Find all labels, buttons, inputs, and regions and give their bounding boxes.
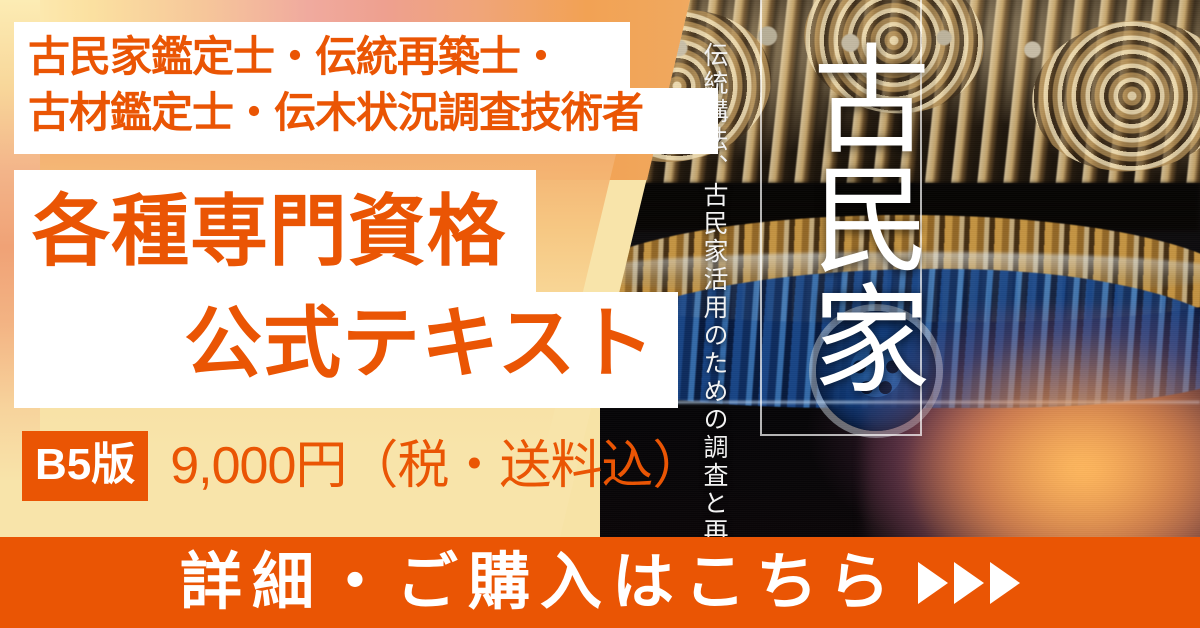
- chevron-right-icon-1: [918, 562, 948, 604]
- cta-button-bar[interactable]: 詳細・ご購入はこちら: [0, 537, 1200, 628]
- chevron-right-icon-3: [990, 562, 1020, 604]
- price-row: B5版 9,000円（税・送料込）: [0, 420, 700, 512]
- headline-line-1: 各種専門資格: [32, 192, 506, 270]
- credentials-line-2: 古材鑑定士・伝木状況調査技術者: [28, 92, 643, 134]
- promotional-banner: 古民家 伝統構法、古民家活用のための調査と再生の 古民家鑑定士・伝統再築士・ 古…: [0, 0, 1200, 628]
- price-amount: 9,000円（税・送料込）: [170, 440, 703, 492]
- headline-line-2: 公式テキスト: [184, 304, 656, 382]
- credentials-line-1: 古民家鑑定士・伝統再築士・: [28, 36, 561, 78]
- cta-label: 詳細・ご購入はこちら: [180, 552, 900, 614]
- book-title: 古民家: [758, 8, 926, 428]
- credentials-block: 古民家鑑定士・伝統再築士・ 古材鑑定士・伝木状況調査技術者: [14, 22, 718, 154]
- cta-arrow-group: [918, 562, 1020, 604]
- chevron-right-icon-2: [954, 562, 984, 604]
- size-badge-b5: B5版: [22, 431, 148, 501]
